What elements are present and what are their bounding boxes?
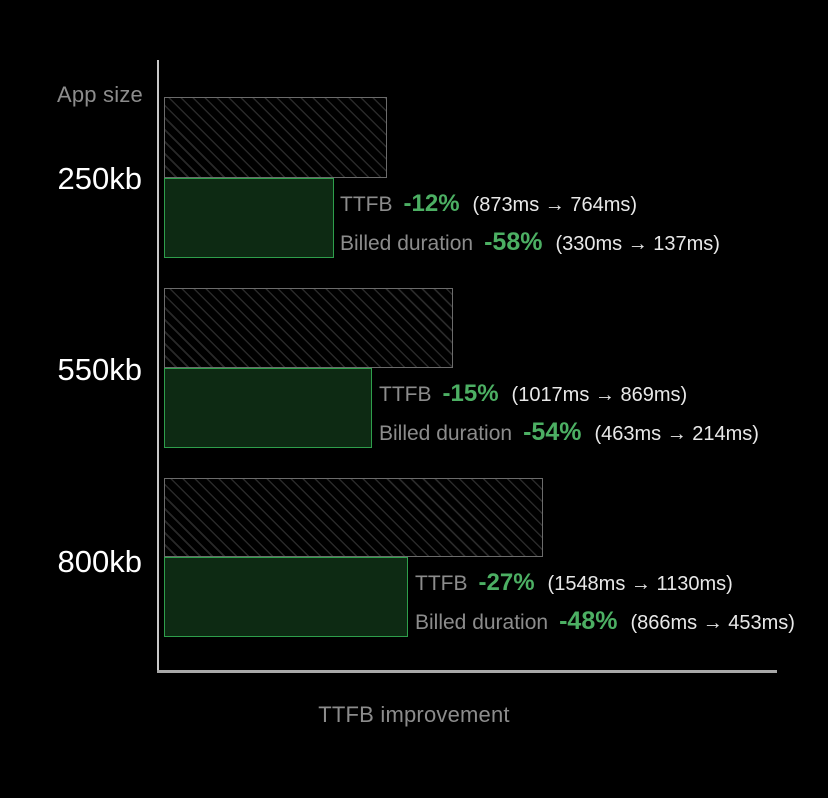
metric-delta: -58% [484, 228, 542, 257]
x-axis-line [157, 670, 777, 673]
y-axis-title: App size [57, 82, 143, 108]
metric-label: TTFB [415, 572, 468, 596]
metric-range: (330ms → 137ms) [555, 233, 720, 256]
metric-range: (463ms → 214ms) [594, 423, 759, 446]
metric-label: TTFB [340, 193, 393, 217]
bar-after-800kb [164, 557, 408, 637]
bar-after-250kb [164, 178, 334, 258]
category-label-800kb: 800kb [58, 544, 142, 580]
metric-delta: -54% [523, 418, 581, 447]
bar-before-250kb [164, 97, 387, 178]
annotation-ttfb-800kb: TTFB -27% (1548ms → 1130ms) [415, 569, 733, 597]
category-label-250kb: 250kb [58, 161, 142, 197]
metric-range: (1017ms → 869ms) [512, 384, 688, 407]
ttfb-improvement-chart: App size TTFB improvement 250kb TTFB -12… [0, 0, 828, 798]
metric-label: TTFB [379, 383, 432, 407]
bar-before-550kb [164, 288, 453, 368]
annotation-ttfb-250kb: TTFB -12% (873ms → 764ms) [340, 190, 637, 218]
y-axis-line [157, 60, 159, 672]
metric-label: Billed duration [379, 422, 512, 446]
annotation-billed-duration-250kb: Billed duration -58% (330ms → 137ms) [340, 228, 720, 257]
metric-delta: -15% [443, 380, 499, 408]
bar-after-550kb [164, 368, 372, 448]
metric-range: (866ms → 453ms) [630, 612, 795, 635]
annotation-billed-duration-800kb: Billed duration -48% (866ms → 453ms) [415, 607, 795, 636]
x-axis-title: TTFB improvement [0, 702, 828, 728]
annotation-ttfb-550kb: TTFB -15% (1017ms → 869ms) [379, 380, 687, 408]
metric-label: Billed duration [340, 232, 473, 256]
annotation-billed-duration-550kb: Billed duration -54% (463ms → 214ms) [379, 418, 759, 447]
metric-delta: -27% [479, 569, 535, 597]
metric-range: (873ms → 764ms) [473, 194, 638, 217]
bar-before-800kb [164, 478, 543, 557]
metric-label: Billed duration [415, 611, 548, 635]
category-label-550kb: 550kb [58, 352, 142, 388]
metric-delta: -12% [404, 190, 460, 218]
metric-delta: -48% [559, 607, 617, 636]
metric-range: (1548ms → 1130ms) [548, 573, 733, 596]
